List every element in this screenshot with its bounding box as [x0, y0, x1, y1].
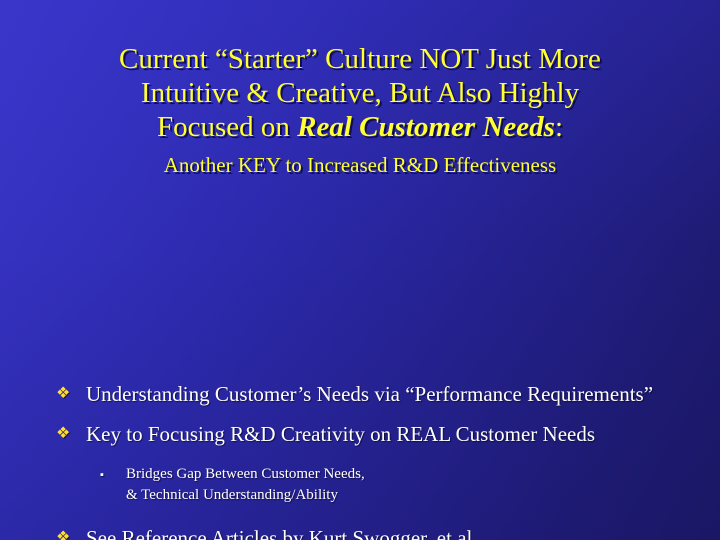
list-item: ❖ Understanding Customer’s Needs via “Pe… [56, 380, 686, 408]
list-item-label: Understanding Customer’s Needs via “Perf… [86, 380, 686, 408]
title-line-2: Intuitive & Creative, But Also Highly [30, 76, 690, 110]
sub-list-item-line-a: Bridges Gap Between Customer Needs, [126, 466, 365, 482]
spacer [56, 450, 686, 464]
page-title: Current “Starter” Culture NOT Just More … [30, 42, 690, 144]
diamond-bullet-icon: ❖ [56, 380, 86, 408]
slide-subtitle: Another KEY to Increased R&D Effectivene… [30, 150, 690, 180]
title-line-3: Focused on Real Customer Needs: [30, 110, 690, 144]
spacer [56, 506, 686, 524]
square-bullet-icon: ▪ [100, 464, 126, 486]
spacer [56, 410, 686, 420]
title-line-3-emphasis: Real Customer Needs [297, 111, 555, 143]
diamond-bullet-icon: ❖ [56, 524, 86, 540]
list-item-label: See Reference Articles by Kurt Swogger, … [86, 524, 686, 540]
list-item: ❖ See Reference Articles by Kurt Swogger… [56, 524, 686, 540]
page-number: 42 [0, 6, 704, 20]
title-line-3-suffix: : [555, 111, 563, 143]
slide-body: ❖ Understanding Customer’s Needs via “Pe… [56, 380, 686, 540]
diamond-bullet-icon: ❖ [56, 420, 86, 448]
slide-title-block: Current “Starter” Culture NOT Just More … [30, 42, 690, 180]
presentation-slide: 42 Current “Starter” Culture NOT Just Mo… [0, 0, 720, 540]
sub-list-item-label: Bridges Gap Between Customer Needs, & Te… [126, 464, 686, 506]
title-line-3-prefix: Focused on [157, 111, 297, 143]
title-line-1: Current “Starter” Culture NOT Just More [30, 42, 690, 76]
list-item: ❖ Key to Focusing R&D Creativity on REAL… [56, 420, 686, 448]
sub-list-item: ▪ Bridges Gap Between Customer Needs, & … [100, 464, 686, 506]
sub-list-item-line-b: & Technical Understanding/Ability [126, 487, 338, 503]
list-item-label: Key to Focusing R&D Creativity on REAL C… [86, 420, 686, 448]
